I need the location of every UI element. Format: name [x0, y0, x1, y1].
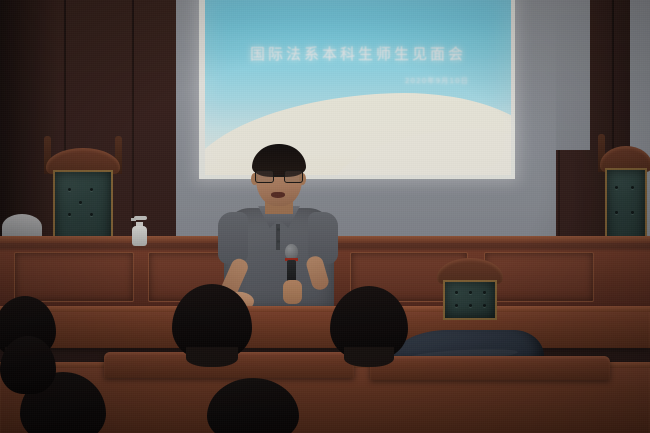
middle-bench-row	[0, 308, 650, 348]
chair-stud	[615, 211, 618, 214]
glasses-bridge	[274, 175, 284, 177]
chair-stud	[90, 213, 93, 216]
chair-stud	[68, 213, 71, 216]
presenter-hand-holding-mic	[283, 280, 302, 304]
chair-stud	[469, 304, 472, 307]
chair-stud	[631, 211, 634, 214]
audience-head-right	[330, 286, 408, 360]
chair-stud	[90, 188, 93, 191]
microphone-head	[285, 244, 298, 259]
chair-stud	[483, 291, 486, 294]
chair-leather-back	[443, 280, 497, 320]
ornate-chair-left	[46, 148, 120, 248]
audience-head-center-front	[207, 378, 299, 433]
head-nape	[344, 347, 394, 366]
plaster-wall-right	[556, 0, 590, 150]
eyeglasses-icon	[254, 170, 304, 183]
ornate-chair-right	[600, 146, 650, 250]
bench-panel	[14, 252, 134, 302]
audience-head-left	[0, 336, 56, 394]
slide-subtitle: 2020年9月10日	[405, 76, 469, 86]
chair-stud	[631, 186, 634, 189]
head-hair	[0, 336, 56, 394]
chair-stud	[469, 291, 472, 294]
glasses-lens-left	[255, 170, 274, 183]
chair-stud	[455, 291, 458, 294]
head-nape	[186, 347, 237, 367]
chair-stud	[483, 304, 486, 307]
hand-sanitizer-bottle	[131, 216, 148, 246]
presenter-button	[277, 228, 280, 231]
slide-title: 国际法系本科生师生见面会	[205, 43, 511, 64]
head-hair	[207, 378, 299, 433]
ornate-chair-center	[437, 258, 503, 320]
sanitizer-body	[132, 226, 147, 246]
presenter-sleeve-left	[218, 212, 248, 264]
audience-head-center	[172, 284, 252, 360]
chair-stud	[79, 201, 82, 204]
middle-bench-top	[0, 306, 650, 312]
presenter-button	[277, 240, 280, 243]
lecture-hall-photo: 国际法系本科生师生见面会 2020年9月10日	[0, 0, 650, 433]
presenter-mouth	[271, 192, 285, 198]
sanitizer-spout	[131, 218, 136, 221]
chair-stud	[615, 186, 618, 189]
chair-stud	[455, 304, 458, 307]
glasses-lens-right	[284, 170, 303, 183]
chair-stud	[68, 188, 71, 191]
